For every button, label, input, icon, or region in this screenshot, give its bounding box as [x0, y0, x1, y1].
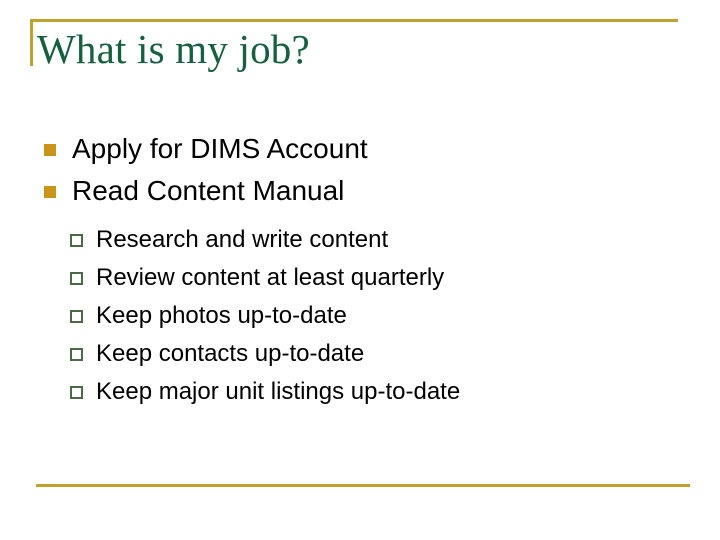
- sublist-container: Research and write content Review conten…: [0, 221, 720, 411]
- bullet-text: Apply for DIMS Account: [72, 128, 368, 170]
- slide-canvas: What is my job? Apply for DIMS Account R…: [0, 0, 720, 540]
- slide-title: What is my job?: [37, 24, 677, 74]
- hollow-square-bullet-icon: [70, 234, 83, 247]
- hollow-square-bullet-icon: [70, 386, 83, 399]
- title-left-vertical-rule-icon: [30, 19, 33, 66]
- list-item: Review content at least quarterly: [0, 259, 720, 297]
- slide-body: Apply for DIMS Account Read Content Manu…: [0, 128, 720, 411]
- list-item: Keep photos up-to-date: [0, 297, 720, 335]
- bottom-horizontal-rule-icon: [36, 484, 690, 487]
- list-item: Keep major unit listings up-to-date: [0, 373, 720, 411]
- filled-square-bullet-icon: [44, 144, 56, 156]
- sub-bullet-text: Keep contacts up-to-date: [96, 335, 364, 373]
- sub-bullet-text: Review content at least quarterly: [96, 259, 444, 297]
- hollow-square-bullet-icon: [70, 272, 83, 285]
- list-item: Read Content Manual: [0, 170, 720, 212]
- filled-square-bullet-icon: [44, 186, 56, 198]
- sub-bullet-text: Keep photos up-to-date: [96, 297, 347, 335]
- list-item: Keep contacts up-to-date: [0, 335, 720, 373]
- bullet-list-level2: Research and write content Review conten…: [0, 221, 720, 411]
- list-item: Research and write content: [0, 221, 720, 259]
- sub-bullet-text: Keep major unit listings up-to-date: [96, 373, 460, 411]
- list-item: Apply for DIMS Account: [0, 128, 720, 170]
- top-horizontal-rule-icon: [30, 19, 678, 22]
- hollow-square-bullet-icon: [70, 348, 83, 361]
- bullet-text: Read Content Manual: [72, 170, 344, 212]
- hollow-square-bullet-icon: [70, 310, 83, 323]
- sub-bullet-text: Research and write content: [96, 221, 388, 259]
- bullet-list-level1: Apply for DIMS Account Read Content Manu…: [0, 128, 720, 411]
